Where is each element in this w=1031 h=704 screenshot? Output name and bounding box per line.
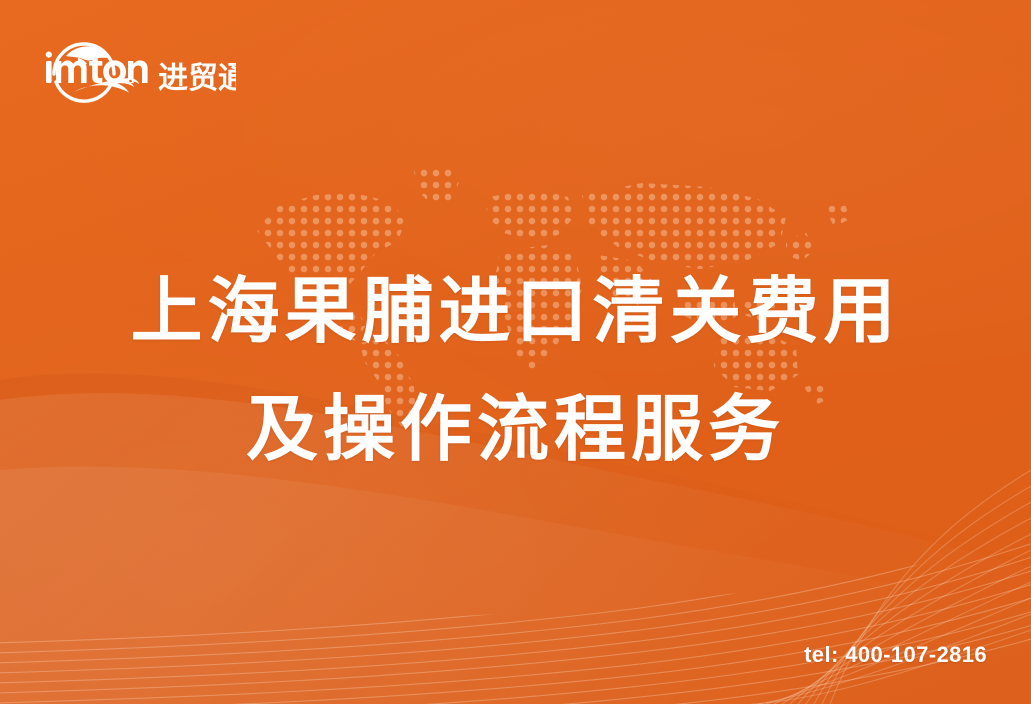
logo-chinese-name: 进贸通 (158, 61, 236, 96)
company-logo[interactable]: 进贸通 ® (40, 28, 236, 104)
promo-banner: 进贸通 ® imton 进贸通 ® 上海果脯进口清关费用 及操作流程服务 tel… (0, 0, 1031, 704)
headline-line-1: 上海果脯进口清关费用 (0, 252, 1031, 370)
headline-line-2: 及操作流程服务 (0, 370, 1031, 488)
telephone-number[interactable]: tel: 400-107-2816 (804, 642, 987, 668)
headline: 上海果脯进口清关费用 及操作流程服务 (0, 252, 1031, 488)
